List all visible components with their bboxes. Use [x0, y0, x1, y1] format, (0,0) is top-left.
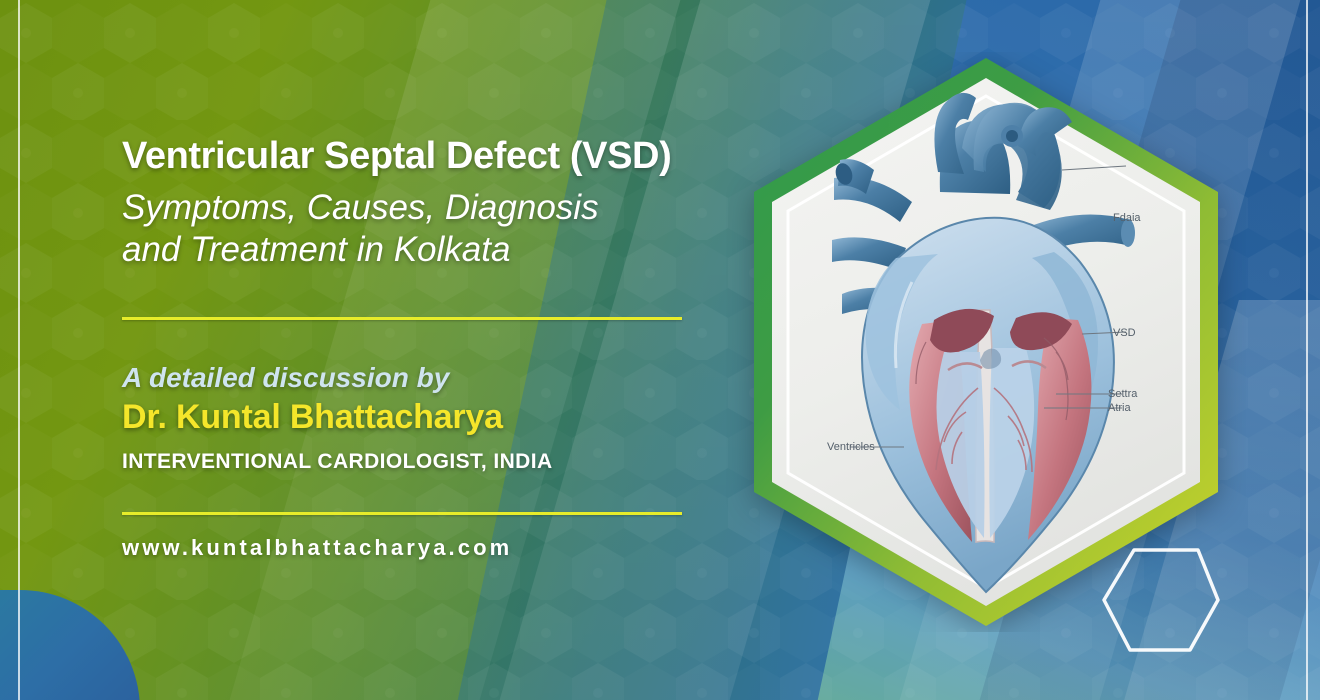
page-subtitle: Symptoms, Causes, Diagnosis and Treatmen… [122, 187, 742, 271]
label-ventricles: Ventricles [827, 441, 875, 453]
heart-illustration-panel [726, 52, 1246, 632]
text-column: Ventricular Septal Defect (VSD) Symptoms… [122, 0, 742, 700]
label-vsd: VSD [1113, 327, 1136, 339]
doctor-name: Dr. Kuntal Bhattacharya [122, 398, 503, 437]
divider-bottom [122, 512, 682, 515]
banner-root: Ventricular Septal Defect (VSD) Symptoms… [0, 0, 1320, 700]
website-url[interactable]: www.kuntalbhattacharya.com [122, 535, 512, 561]
right-edge-rule [1306, 0, 1308, 700]
subtitle-line-2: and Treatment in Kolkata [122, 229, 742, 271]
subtitle-line-1: Symptoms, Causes, Diagnosis [122, 187, 742, 229]
label-aorta: Fdaia [1113, 212, 1141, 224]
byline-text: A detailed discussion by [122, 362, 449, 394]
label-septum: Settra [1108, 388, 1137, 400]
hexagon-badge-outline [1094, 542, 1224, 662]
label-atria: Atria [1108, 402, 1131, 414]
page-title: Ventricular Septal Defect (VSD) [122, 135, 671, 178]
divider-top [122, 317, 682, 320]
doctor-credentials: INTERVENTIONAL CARDIOLOGIST, INDIA [122, 450, 553, 474]
left-edge-rule [18, 0, 20, 700]
